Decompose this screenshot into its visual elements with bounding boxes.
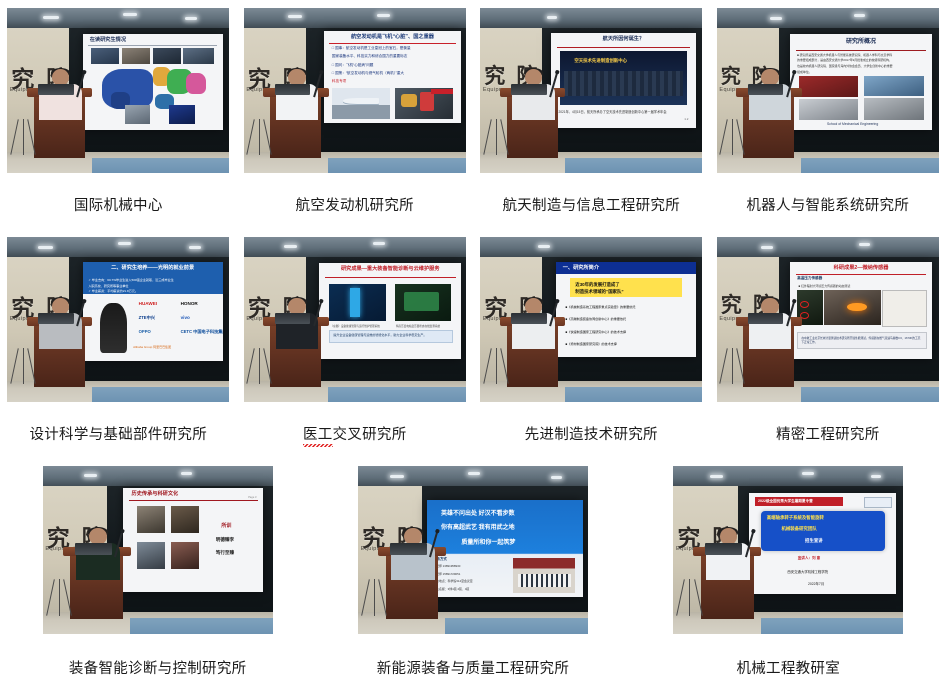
tripod xyxy=(50,579,68,616)
slide-line: 特高压变电站变压器状态在线监测系统 xyxy=(396,324,440,328)
slide-line: 科技专项 xyxy=(332,79,346,84)
slide-headline-line: 招生宣讲 xyxy=(805,538,823,544)
tripod xyxy=(487,119,505,155)
slide-line: ■《增材制造国家研究院》的技术支撑 xyxy=(566,341,617,346)
projection-screen: 2022级全国优秀大学生暑期夏令营 高端轴承转子系统及智能旋转 机械装备研究团队… xyxy=(749,493,896,594)
slide-line: 也是校内机器人研究院、国家级与海内外协会会员、大学生创新中心的重要 xyxy=(797,64,892,68)
ceiling xyxy=(480,237,702,258)
ceiling xyxy=(717,8,939,29)
slide-line: □ 国策：“航空发动机与燃气轮机（两机）”重大 xyxy=(332,71,404,76)
slide-line: □ 国问：飞机“心脏病”问题 xyxy=(332,63,374,68)
laptop xyxy=(38,313,74,325)
projection-screen: 历史传承与科研文化 Page 3 所训 明德臻李 笃行至臻 xyxy=(123,488,263,592)
ceiling xyxy=(717,237,939,258)
slide-line: 组成单位。 xyxy=(797,70,811,74)
gallery-cell[interactable]: 究 院 Equipment ( IAFE ) 2022级全国优秀大学生暑期夏令营… xyxy=(631,458,946,684)
slide-title: 科研成果2—微纳传感器 xyxy=(790,262,932,272)
gallery-cell[interactable]: 究 院 Equipment ( IAFE ) 科研成果2—微纳传感器 高温压力传… xyxy=(710,229,946,455)
photo-caption: 国际机械中心 xyxy=(74,197,163,215)
tripod xyxy=(723,119,741,155)
gallery-cell[interactable]: 究 院 Equipment ( IAFE ) 二、研究生培养——光明的就业前景 … xyxy=(0,229,237,455)
ceiling xyxy=(7,237,229,258)
slide-line: 国家装备水平、科技实力和综合国力的重要标志 xyxy=(332,54,407,59)
slide-contact-line: 办公地点：科学馆314室会议室 xyxy=(433,579,473,583)
tripod xyxy=(250,348,268,384)
laptop xyxy=(748,84,784,96)
gallery-cell[interactable]: 究 院 Equipment ( IAFE ) 在读研究生情况 xyxy=(0,0,237,225)
slide-contact-line: 招生名额：3博4硕 2硕、4硕 xyxy=(433,587,469,591)
slide-logo: Alibaba Group 阿里巴巴集团 xyxy=(133,345,171,349)
laptop xyxy=(38,84,74,96)
slide-logo: ZTE中兴 xyxy=(139,315,155,321)
slide-slogan-line: 你有高超武艺 我有用武之地 xyxy=(441,522,515,531)
slide-title: 航天所因何诞生？ xyxy=(551,33,695,43)
slide-line: ■《高端制造装备协同创新中心》的重要依托 xyxy=(566,316,627,321)
tripod xyxy=(723,348,741,384)
conference-scene: 究 院 Equipment ( IAFE ) 在读研究生情况 xyxy=(7,8,229,173)
photo-thumbnail[interactable]: 究 院 Equipment ( IAFE ) 研究成果—重大装备智能诊断与云维护… xyxy=(244,237,466,402)
slide-line: □ 国事：航空发动机是工业皇冠上的宝石，是衡量 xyxy=(332,46,411,51)
laptop xyxy=(511,84,547,96)
photo-caption: 机器人与智能系统研究所 xyxy=(746,197,909,215)
ceiling xyxy=(480,8,702,29)
conference-scene: 究 院 Equipment ( IAFE ) 历史传承与科研文化 Page 3 … xyxy=(43,466,273,634)
gallery-cell[interactable]: 究 院 Equipment ( IAFE ) 英雄不问出处 好汉不看步数 你有高… xyxy=(315,458,630,684)
laptop xyxy=(390,543,427,555)
slide-line: ✓ 毕业薪资：平均薪资约21.8万元。 xyxy=(88,288,138,293)
photo-thumbnail[interactable]: 究 院 Equipment ( IAFE ) 研究所概况 ■ 研究所是西安交通大… xyxy=(717,8,939,173)
slide-logo: CETC 中国电子科技集团公司 xyxy=(181,329,223,335)
photo-caption: 医工交叉研究所 xyxy=(303,426,407,444)
gallery-cell[interactable]: 究 院 Equipment ( IAFE ) 研究所概况 ■ 研究所是西安交通大… xyxy=(710,0,946,225)
ceiling xyxy=(673,466,903,488)
slide-line: （左图）设备健康管理与运行维护管理系统 xyxy=(331,324,380,328)
slide-line: ■《快速制造国家工程研究中心》的技术支撑 xyxy=(566,329,627,334)
gallery-row-1: 究 院 Equipment ( IAFE ) 在读研究生情况 xyxy=(0,0,946,225)
ceiling xyxy=(7,8,229,29)
photo-caption: 航空发动机研究所 xyxy=(296,197,414,215)
photo-thumbnail[interactable]: 究 院 Equipment ( IAFE ) 英雄不问出处 好汉不看步数 你有高… xyxy=(358,466,588,634)
slide-org: 西安交通大学机械工程学院 xyxy=(787,569,828,574)
slide-line: ■ 红外辐射大环境压力传感器的动态测试 xyxy=(799,284,851,288)
conference-scene: 究 院 Equipment ( IAFE ) 英雄不问出处 好汉不看步数 你有高… xyxy=(358,466,588,634)
photo-caption: 先进制造技术研究所 xyxy=(525,426,658,444)
slide-logo: HONOR xyxy=(181,301,198,306)
slide-line: 的重要组成部分，是由西安交通大学2017年9月批准成立的校级科研机构， xyxy=(797,58,892,62)
gallery-cell[interactable]: 究 院 Equipment ( IAFE ) 历史传承与科研文化 Page 3 … xyxy=(0,458,315,684)
slide-title: 一、研究所简介 xyxy=(556,262,696,272)
laptop xyxy=(275,84,311,96)
photo-caption: 机械工程教研室 xyxy=(736,660,840,678)
ceiling xyxy=(43,466,273,488)
photo-caption: 设计科学与基础部件研究所 xyxy=(29,426,207,444)
ceiling xyxy=(244,8,466,29)
projection-screen: 航空发动机是飞机“心脏”、国之重器 □ 国事：航空发动机是工业皇冠上的宝石，是衡… xyxy=(324,31,462,123)
ceiling xyxy=(358,466,588,488)
slide-banner: 空天技术先进制造创新中心 xyxy=(574,58,627,64)
slide-logo: OPPO xyxy=(139,329,151,334)
gallery-cell[interactable]: 究 院 Equipment ( IAFE ) 航天所因何诞生？ 空天技术先进制造… xyxy=(473,0,710,225)
slide-subtitle: 高温压力传感器 xyxy=(797,276,822,281)
conference-scene: 究 院 Equipment ( IAFE ) 研究成果—重大装备智能诊断与云维护… xyxy=(244,237,466,402)
conference-scene: 究 院 Equipment ( IAFE ) 二、研究生培养——光明的就业前景 … xyxy=(7,237,229,402)
photo-caption: 新能源装备与质量工程研究所 xyxy=(377,660,569,678)
slide-logo: vivo xyxy=(181,315,190,320)
projection-screen: 在读研究生情况 xyxy=(83,34,223,130)
slide-motto-line: 笃行至臻 xyxy=(216,550,234,556)
gallery-row-2: 究 院 Equipment ( IAFE ) 二、研究生培养——光明的就业前景 … xyxy=(0,229,946,455)
slide-title: 二、研究生培养——光明的就业前景 xyxy=(83,262,223,272)
conference-scene: 究 院 Equipment ( IAFE ) 科研成果2—微纳传感器 高温压力传… xyxy=(717,237,939,402)
laptop xyxy=(748,313,784,325)
photo-thumbnail[interactable]: 究 院 Equipment ( IAFE ) 历史传承与科研文化 Page 3 … xyxy=(43,466,273,634)
projection-screen: 航天所因何诞生？ 空天技术先进制造创新中心 2021年、4月15日，航天所承办了… xyxy=(551,33,695,129)
tripod xyxy=(14,348,32,384)
photo-caption: 精密工程研究所 xyxy=(776,426,880,444)
tripod xyxy=(365,579,383,616)
slide-headline-line: 高端轴承转子系统及智能旋转 xyxy=(767,515,824,521)
slide-footer: 2021年、4月15日，航天所承办了空天技术先进制造创新中心第一届学术年会 xyxy=(558,109,666,114)
projection-screen: 研究成果—重大装备智能诊断与云维护服务 （左图）设备健康管理与运行维护管理系统 … xyxy=(319,263,461,359)
gallery-row-3: 究 院 Equipment ( IAFE ) 历史传承与科研文化 Page 3 … xyxy=(0,458,946,684)
slide-title: 研究成果—重大装备智能诊断与云维护服务 xyxy=(319,263,461,273)
photo-thumbnail[interactable]: 究 院 Equipment ( IAFE ) 2022级全国优秀大学生暑期夏令营… xyxy=(673,466,903,634)
tripod xyxy=(14,119,32,155)
gallery-cell[interactable]: 究 院 Equipment ( IAFE ) 研究成果—重大装备智能诊断与云维护… xyxy=(237,229,474,455)
conference-scene: 究 院 Equipment ( IAFE ) 2022级全国优秀大学生暑期夏令营… xyxy=(673,466,903,634)
slide-date: 2022年7月 xyxy=(808,581,824,586)
projection-screen: 英雄不问出处 好汉不看步数 你有高超武艺 我有用武之地 质量所和你一起筑梦 联系… xyxy=(427,500,583,597)
laptop xyxy=(511,313,547,325)
slide-presenter: 宣讲人：刘 意 xyxy=(798,556,821,561)
slide-page-number: 1.2 xyxy=(684,117,688,121)
slide-footer: 在中航工业北京长城计量测试技术研究所开展性能测试，传感器在燃气流速马赫数0.6、… xyxy=(801,336,920,344)
photo-caption: 航天制造与信息工程研究所 xyxy=(502,197,680,215)
slide-line: ■《机械制造系统工程国家重点实验室》的重要依托 xyxy=(566,304,636,309)
slide-slogan-line: 质量所和你一起筑梦 xyxy=(461,537,515,546)
photo-thumbnail[interactable]: 究 院 Equipment ( IAFE ) 航空发动机是飞机“心脏”、国之重器… xyxy=(244,8,466,173)
slide-footer: 提升企业设备健康管理与运维的智能化水平，助力企业科学稳定生产。 xyxy=(333,333,426,337)
slide-page-number: Page 3 xyxy=(248,496,256,499)
slide-footer: School of Mechanical Engineering xyxy=(827,122,878,126)
photo-thumbnail[interactable]: 究 院 Equipment ( IAFE ) 二、研究生培养——光明的就业前景 … xyxy=(7,237,229,402)
conference-scene: 究 院 Equipment ( IAFE ) 研究所概况 ■ 研究所是西安交通大… xyxy=(717,8,939,173)
slide-title: 航空发动机是飞机“心脏”、国之重器 xyxy=(324,31,462,41)
gallery-cell[interactable]: 究 院 Equipment ( IAFE ) 航空发动机是飞机“心脏”、国之重器… xyxy=(237,0,474,225)
photo-thumbnail[interactable]: 究 院 Equipment ( IAFE ) 科研成果2—微纳传感器 高温压力传… xyxy=(717,237,939,402)
slide-line: ■ 研究所是西安交通大学机器人与智能系统研究院、机器人学科与交叉学科 xyxy=(797,53,892,57)
slide-headline-line: 机械装备研究团队 xyxy=(782,526,817,532)
projection-screen: 研究所概况 ■ 研究所是西安交通大学机器人与智能系统研究院、机器人学科与交叉学科… xyxy=(790,34,932,130)
photo-caption: 装备智能诊断与控制研究所 xyxy=(69,660,247,678)
slide-line: 入职高校、研究所等事业单位 xyxy=(88,283,128,288)
laptop xyxy=(275,313,311,325)
slide-motto-line: 明德臻李 xyxy=(216,537,234,543)
slide-slogan-line: 英雄不问出处 好汉不看步数 xyxy=(441,508,515,517)
laptop xyxy=(75,543,112,555)
photo-thumbnail[interactable]: 究 院 Equipment ( IAFE ) 航天所因何诞生？ 空天技术先进制造… xyxy=(480,8,702,173)
projection-screen: 科研成果2—微纳传感器 高温压力传感器 ■ 红外辐射大环境压力传感器的动态测试 … xyxy=(790,262,932,359)
tripod xyxy=(250,119,268,155)
conference-scene: 究 院 Equipment ( IAFE ) 航天所因何诞生？ 空天技术先进制造… xyxy=(480,8,702,173)
conference-scene: 究 院 Equipment ( IAFE ) 航空发动机是飞机“心脏”、国之重器… xyxy=(244,8,466,173)
slide-logo: HUAWEI xyxy=(139,301,157,306)
slide-highlight: 近30年的发展打造成了 制造技术领域的“国家队” xyxy=(575,281,623,295)
photo-thumbnail[interactable]: 究 院 Equipment ( IAFE ) 在读研究生情况 xyxy=(7,8,229,173)
ceiling xyxy=(244,237,466,258)
slide-motto-title: 所训 xyxy=(221,522,231,529)
slide-title: 在读研究生情况 xyxy=(83,34,223,44)
laptop xyxy=(705,543,742,555)
slide-line: ✓ 毕业去向：60.7%毕业生进入500强企业就职，近三成毕业生 xyxy=(88,277,173,282)
slide-title: 历史传承与科研文化 xyxy=(123,488,263,498)
projection-screen: 二、研究生培养——光明的就业前景 ✓ 毕业去向：60.7%毕业生进入500强企业… xyxy=(83,262,223,361)
projection-screen: 一、研究所简介 近30年的发展打造成了 制造技术领域的“国家队” ■《机械制造系… xyxy=(556,262,696,358)
photo-thumbnail[interactable]: 究 院 Equipment ( IAFE ) 一、研究所简介 近30年的发展打造… xyxy=(480,237,702,402)
tripod xyxy=(680,579,698,616)
tripod xyxy=(487,348,505,384)
conference-scene: 究 院 Equipment ( IAFE ) 一、研究所简介 近30年的发展打造… xyxy=(480,237,702,402)
gallery-cell[interactable]: 究 院 Equipment ( IAFE ) 一、研究所简介 近30年的发展打造… xyxy=(473,229,710,455)
photo-gallery: 究 院 Equipment ( IAFE ) 在读研究生情况 xyxy=(0,0,946,684)
slide-title: 研究所概况 xyxy=(790,34,932,46)
